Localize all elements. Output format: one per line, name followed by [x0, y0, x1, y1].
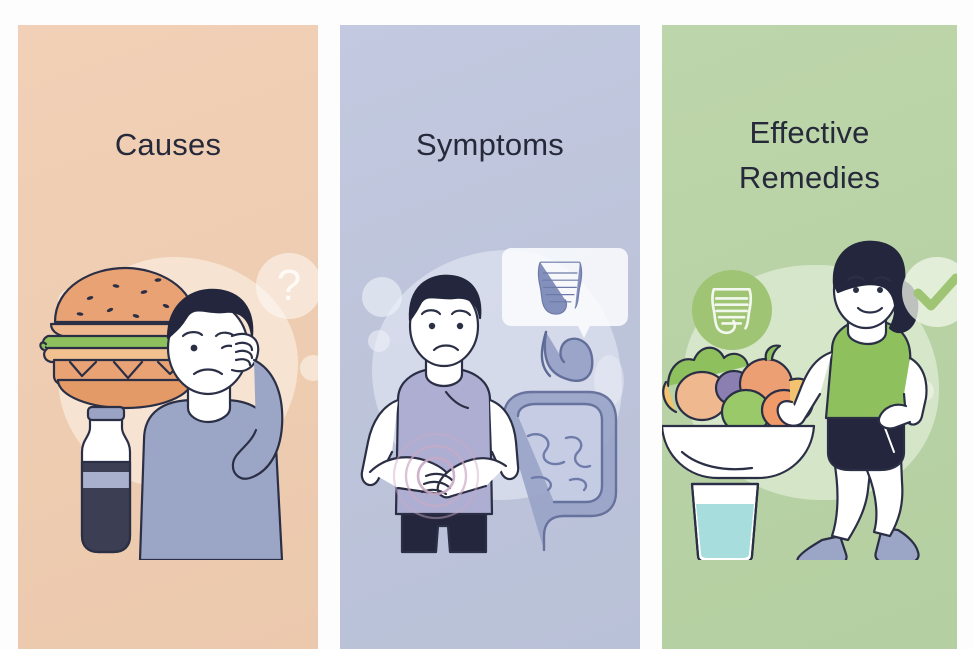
- svg-text:?: ?: [277, 261, 301, 310]
- symptoms-illustration: [340, 240, 640, 560]
- panel-causes-title: Causes: [18, 125, 318, 165]
- water-glass-icon: [692, 484, 758, 560]
- soda-bottle-icon: [82, 407, 130, 552]
- panel-remedies-title-line2: Remedies: [662, 158, 957, 198]
- stomach-ache-man-illustration: [362, 276, 518, 552]
- intestine-speech-bubble: [502, 248, 628, 338]
- gut-health-badge: [692, 270, 772, 350]
- infographic-board: Causes: [0, 0, 973, 649]
- question-mark-badge: ?: [256, 253, 318, 319]
- check-mark-badge: [902, 257, 957, 327]
- panel-causes[interactable]: Causes: [18, 25, 318, 649]
- digestive-system-diagram: [504, 332, 616, 550]
- panel-remedies-title-line1: Effective: [662, 113, 957, 153]
- panel-symptoms[interactable]: Symptoms: [340, 25, 640, 649]
- panel-remedies[interactable]: Effective Remedies: [662, 25, 957, 649]
- panel-symptoms-title: Symptoms: [340, 125, 640, 165]
